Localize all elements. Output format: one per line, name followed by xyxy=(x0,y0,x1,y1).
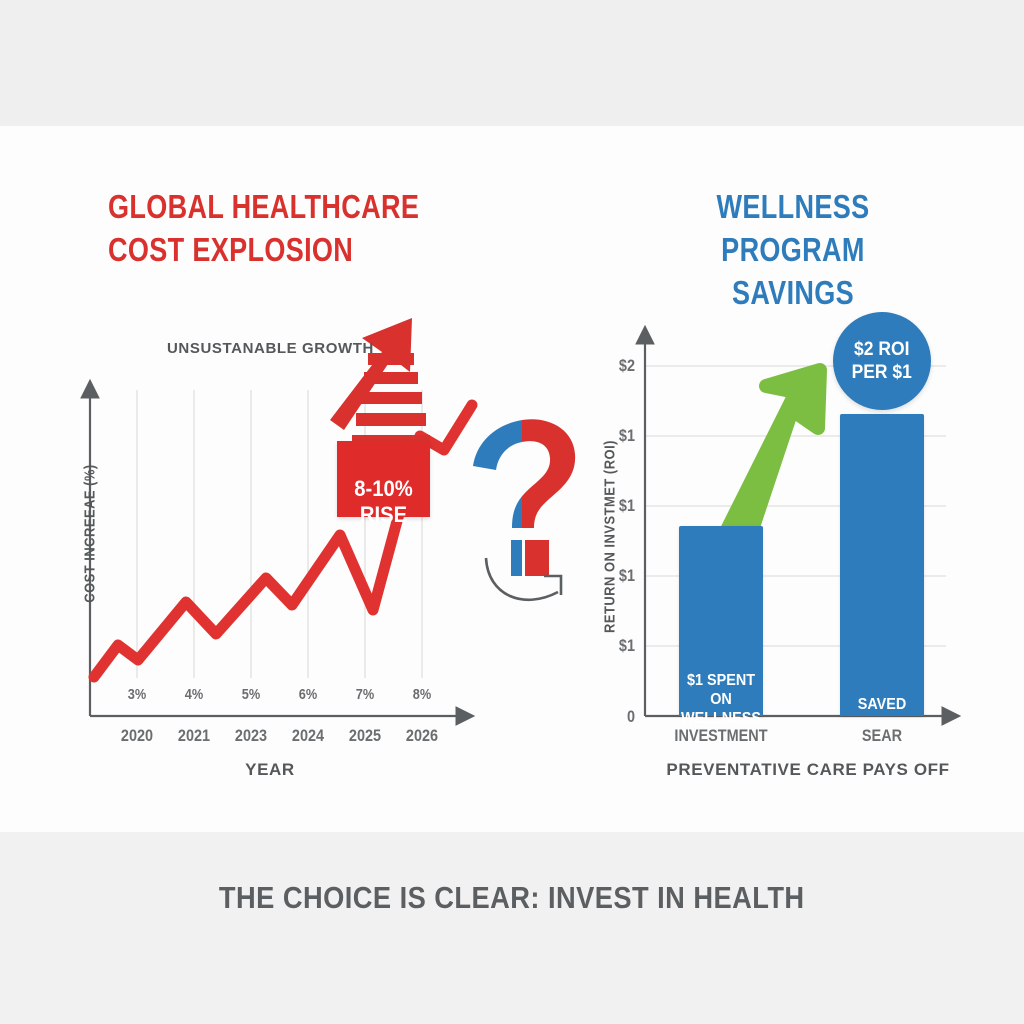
left-chart-y-axis-title: COST INCREEAE (%) xyxy=(82,452,99,615)
roi-badge: $2 ROI PER $1 xyxy=(833,312,931,410)
left-chart-year-2024: 2024 xyxy=(280,726,336,746)
infographic-canvas: GLOBAL HEALTHCARE COST EXPLOSION WELLNES… xyxy=(0,0,1024,1024)
right-chart-category-investment: INVESTMENT xyxy=(670,726,772,746)
left-chart-year-2026: 2026 xyxy=(394,726,450,746)
bar-savings xyxy=(840,414,924,716)
left-chart-year-2023: 2023 xyxy=(223,726,279,746)
bar-savings-label: SAVED xyxy=(834,676,930,733)
left-chart-tick-3: 3% xyxy=(112,686,163,703)
left-chart-x-axis-title: YEAR xyxy=(180,760,360,780)
left-chart-tick-6: 6% xyxy=(283,686,334,703)
right-chart-ytick-0: 0 xyxy=(601,707,635,727)
rise-callout-badge: 8-10% RISE xyxy=(337,441,430,517)
preventative-care-caption: PREVENTATIVE CARE PAYS OFF xyxy=(663,760,953,780)
left-chart-tick-8: 8% xyxy=(397,686,448,703)
left-chart-year-2021: 2021 xyxy=(166,726,222,746)
right-chart-y-axis-title: RETURN ON INVSTMET (ROI) xyxy=(602,429,619,644)
footer-banner-text: THE CHOICE IS CLEAR: INVEST IN HEALTH xyxy=(219,880,805,916)
left-chart-year-2020: 2020 xyxy=(109,726,165,746)
left-chart-tick-5: 5% xyxy=(226,686,277,703)
unsustainable-growth-annotation: UNSUSTANABLE GROWTH xyxy=(167,340,374,357)
left-chart-tick-4: 4% xyxy=(169,686,220,703)
left-chart-year-2025: 2025 xyxy=(337,726,393,746)
curved-arrow-icon xyxy=(478,548,598,618)
right-chart-category-sear: SEAR xyxy=(840,726,925,746)
right-chart-ytick-5: $2 xyxy=(601,356,635,376)
left-chart-tick-7: 7% xyxy=(340,686,391,703)
roi-badge-text: $2 ROI PER $1 xyxy=(852,338,912,384)
footer-banner: THE CHOICE IS CLEAR: INVEST IN HEALTH xyxy=(0,880,1024,916)
rise-callout-text: 8-10% RISE xyxy=(341,476,427,528)
